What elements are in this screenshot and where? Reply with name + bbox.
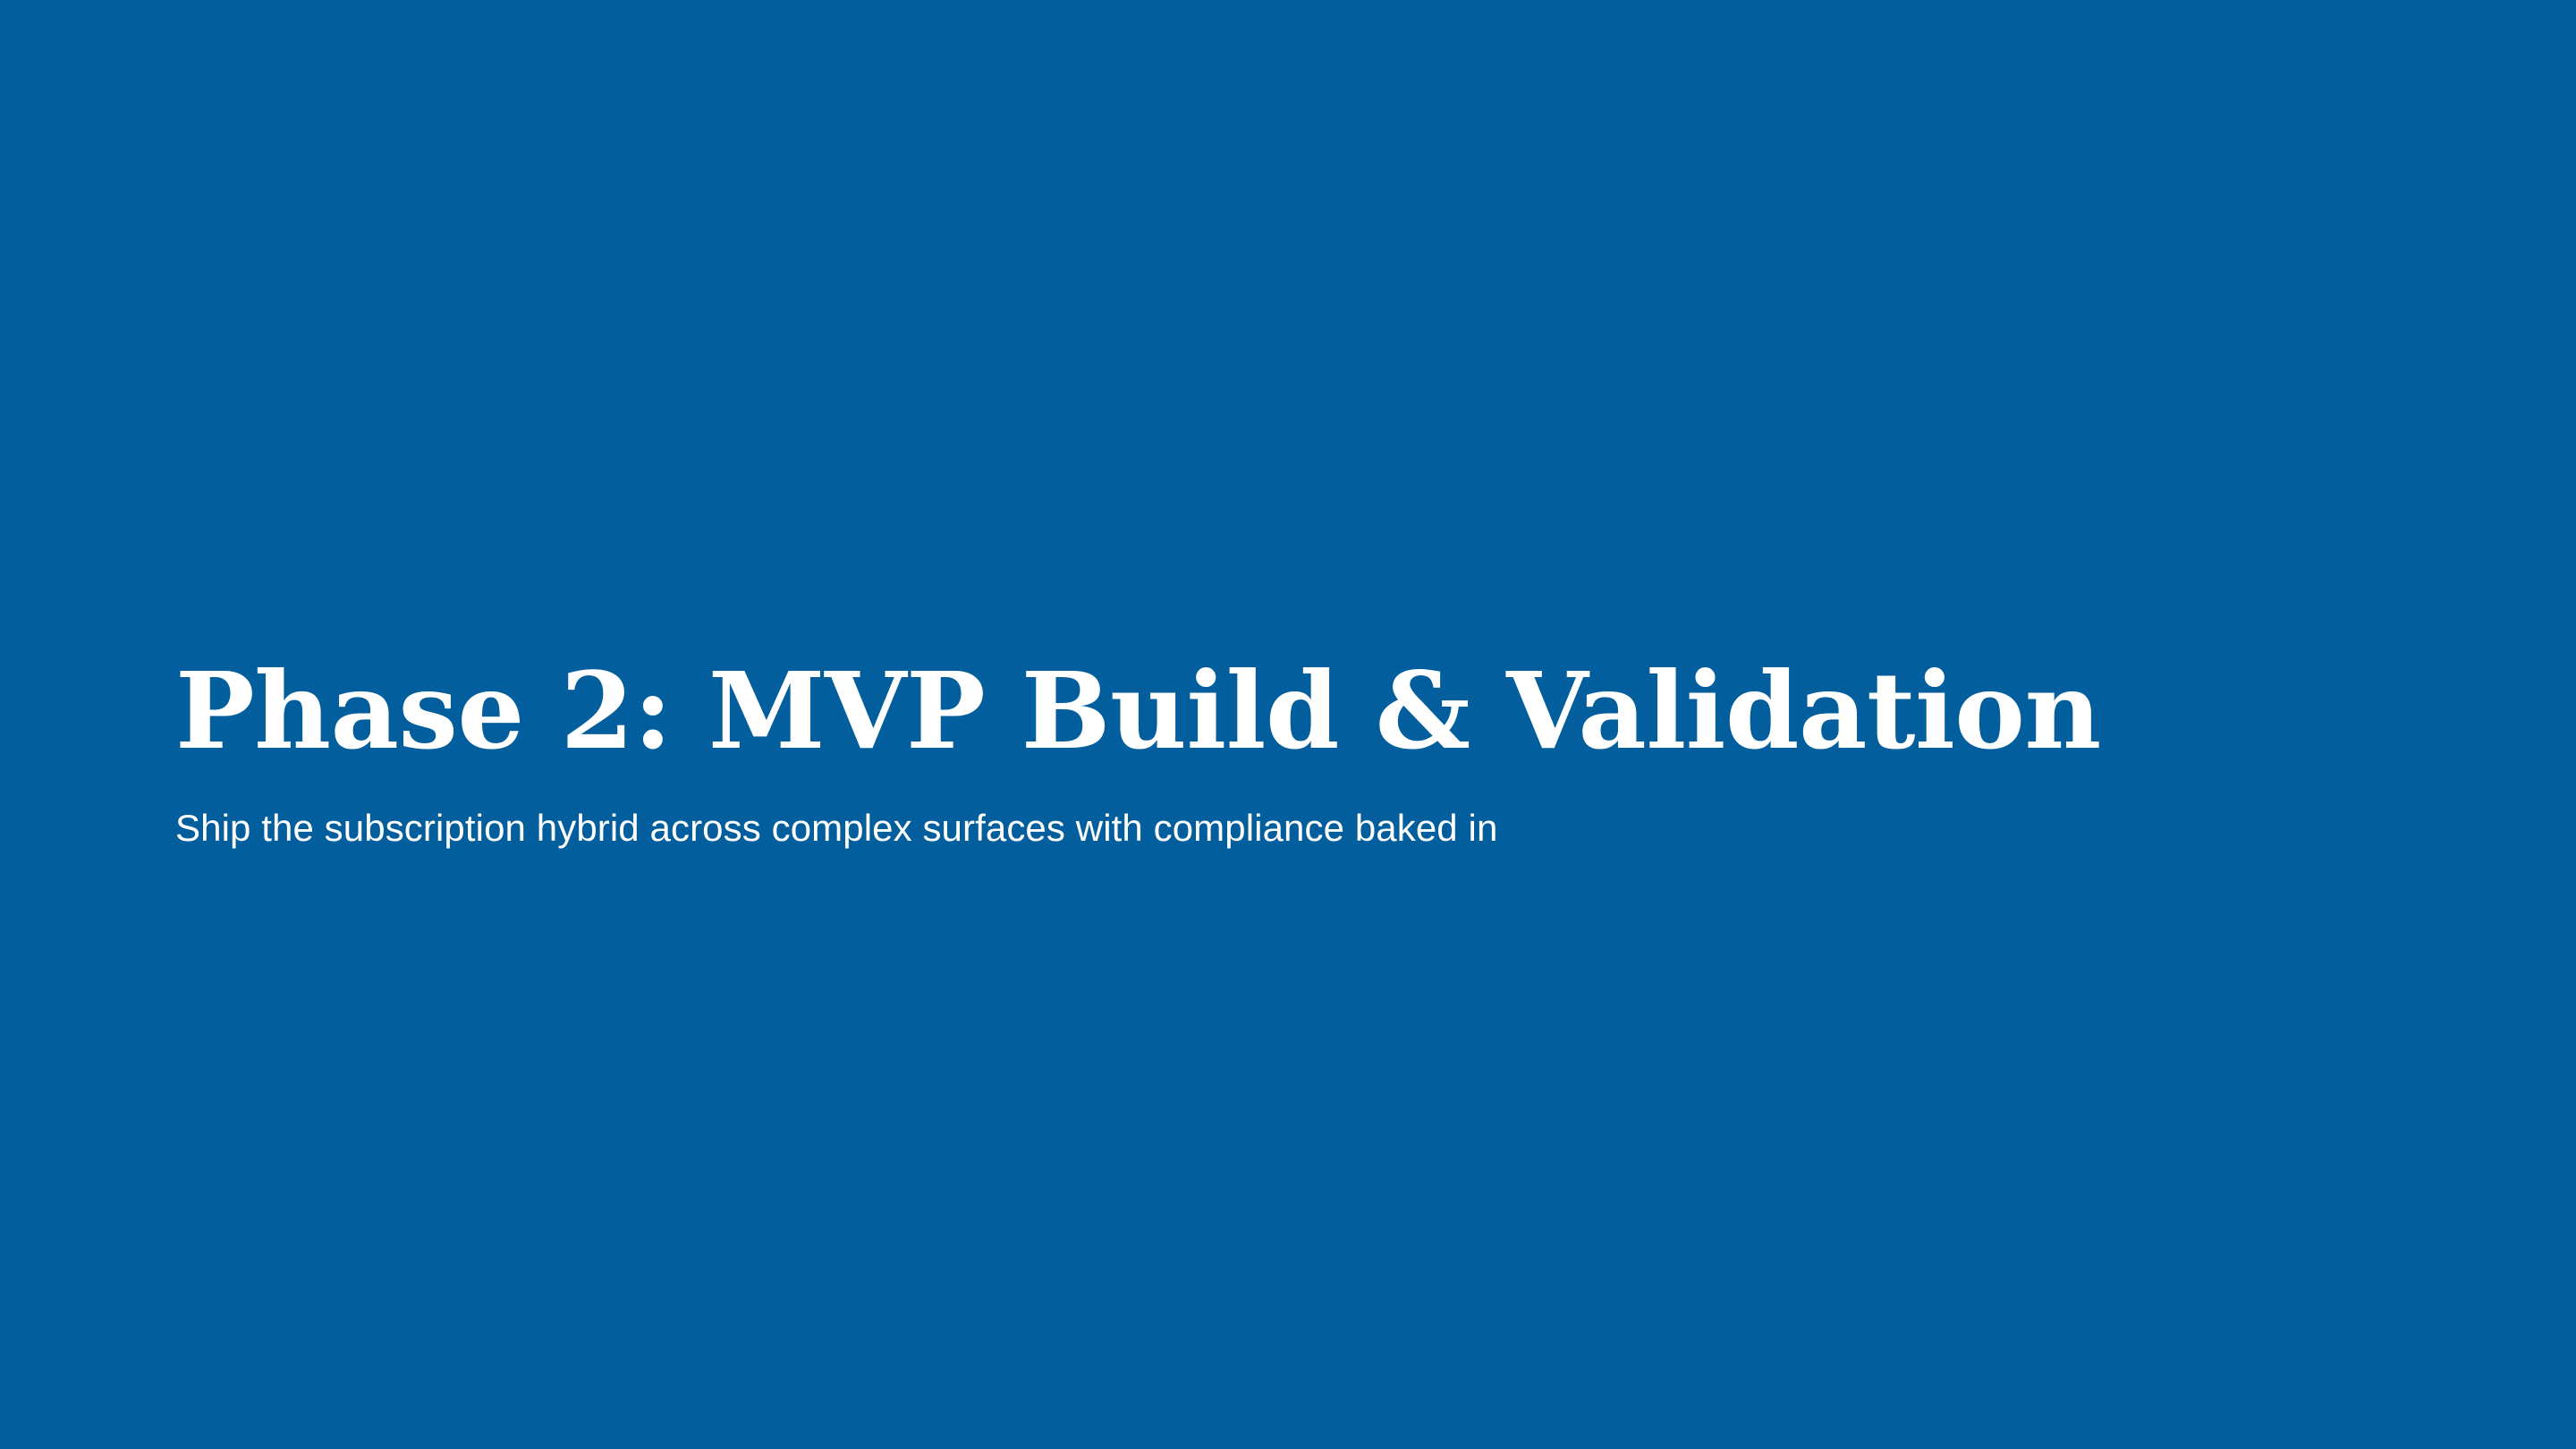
title-slide: Phase 2: MVP Build & Validation Ship the…	[0, 0, 2576, 1449]
slide-title: Phase 2: MVP Build & Validation	[175, 657, 2143, 765]
slide-subtitle: Ship the subscription hybrid across comp…	[175, 765, 2143, 853]
slide-text-block: Phase 2: MVP Build & Validation Ship the…	[175, 657, 2143, 853]
